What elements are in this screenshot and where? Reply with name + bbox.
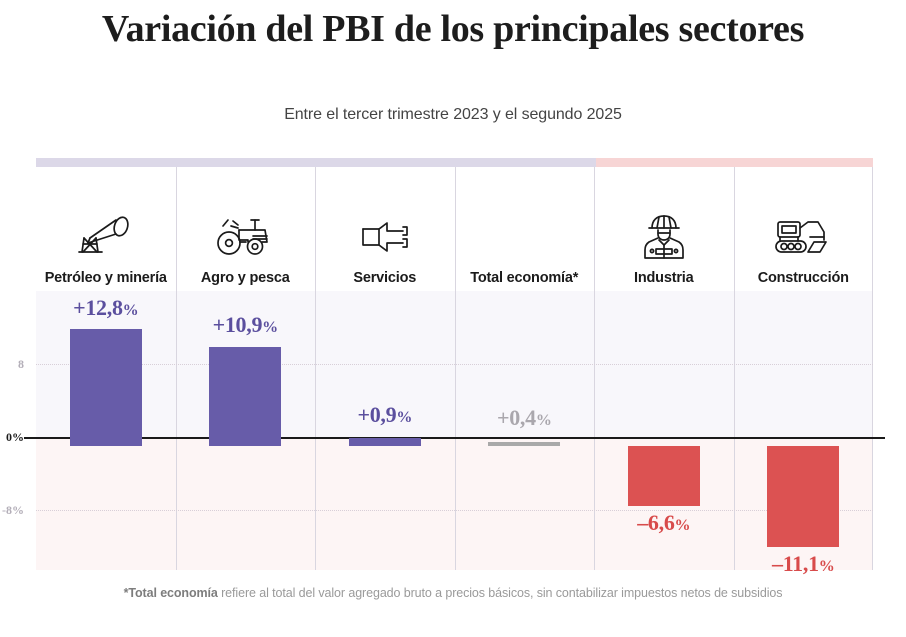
column-label: Total economía* [470,270,578,287]
y-axis-tick-8: 8 [0,357,24,372]
bar-value-number: +0,4 [497,405,536,430]
bar-value-label: –11,1% [734,551,874,577]
bar-value-suffix: % [396,409,412,426]
worker-icon [640,209,688,265]
column-label: Industria [634,270,693,287]
accent-bar-positive [36,158,596,167]
footnote-bold: *Total economía [124,586,218,600]
bar-value-label: –6,6% [594,510,734,536]
column-label: Petróleo y minería [45,270,167,287]
bar-value-suffix: % [262,319,278,336]
oil-pump-icon [78,209,134,265]
column-header: Total economía* [455,167,595,291]
bar-value-label: +10,9% [176,312,316,338]
bar-industria[interactable] [628,446,700,506]
tractor-icon [215,209,275,265]
bar-value-number: –11,1 [772,551,819,576]
bar-petroleo[interactable] [70,329,142,446]
y-axis-tick-neg8: -8% [0,503,24,518]
column-label: Agro y pesca [201,270,290,287]
bar-value-suffix: % [123,302,139,319]
column-header: Industria [594,167,734,291]
bar-agro[interactable] [209,347,281,446]
y-axis-tick-zero: 0% [0,430,24,445]
column-label: Servicios [353,270,416,287]
bar-value-label: +12,8% [36,295,176,321]
chart-column-total-economia[interactable]: Total economía* +0,4% [455,167,595,570]
bar-value-number: +12,8 [73,295,123,320]
bar-total-economia[interactable] [488,442,560,446]
column-header: Petróleo y minería [36,167,176,291]
bar-value-suffix: % [675,517,691,534]
bar-value-suffix: % [536,412,552,429]
footnote-rest: refiere al total del valor agregado brut… [218,586,783,600]
bar-chart: 8 0% -8% Petróleo y minería +12,8% [36,158,873,570]
bar-value-number: +10,9 [213,312,263,337]
chart-column-industria[interactable]: Industria –6,6% [594,167,734,570]
bar-value-number: –6,6 [637,510,674,535]
column-label: Construcción [758,270,849,287]
bar-value-suffix: % [819,558,835,575]
bar-value-label: +0,4% [455,405,595,431]
page-subtitle: Entre el tercer trimestre 2023 y el segu… [0,106,906,124]
column-header: Agro y pesca [176,167,316,291]
footnote: *Total economía refiere al total del val… [0,586,906,600]
bar-construccion[interactable] [767,446,839,547]
excavator-icon [774,209,832,265]
page-title: Variación del PBI de los principales sec… [0,6,906,52]
column-header: Servicios [315,167,455,291]
chart-column-construccion[interactable]: Construcción –11,1% [734,167,874,570]
column-header: Construcción [734,167,874,291]
bar-servicios[interactable] [349,438,421,446]
bar-value-number: +0,9 [357,402,396,427]
chart-column-servicios[interactable]: Servicios +0,9% [315,167,455,570]
bar-value-label: +0,9% [315,402,455,428]
chart-column-agro[interactable]: Agro y pesca +10,9% [176,167,316,570]
power-plug-icon [359,209,411,265]
accent-bar-negative [596,158,873,167]
chart-column-petroleo[interactable]: Petróleo y minería +12,8% [36,167,176,570]
